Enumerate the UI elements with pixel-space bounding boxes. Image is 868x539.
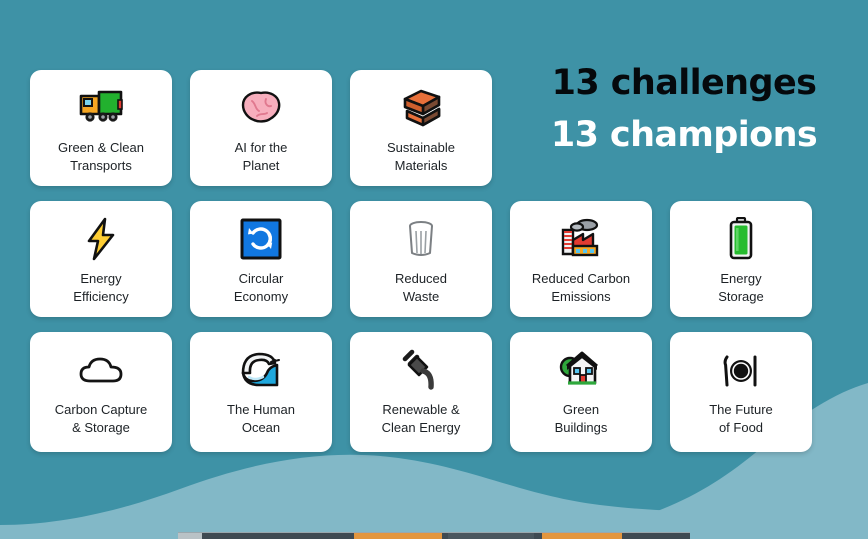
card-label: Reduced Waste <box>389 270 453 305</box>
truck-icon <box>77 83 125 133</box>
card-green-buildings[interactable]: Green Buildings <box>510 332 652 452</box>
factory-icon <box>557 214 605 264</box>
card-reduced-waste[interactable]: Reduced Waste <box>350 201 492 317</box>
card-label: Sustainable Materials <box>381 139 461 174</box>
card-carbon-capture-storage[interactable]: Carbon Capture & Storage <box>30 332 172 452</box>
card-label: Energy Storage <box>712 270 770 305</box>
card-label: The Future of Food <box>703 401 779 436</box>
card-green-clean-transports[interactable]: Green & Clean Transports <box>30 70 172 186</box>
challenge-card-grid: Green & Clean Transports AI for the Plan… <box>30 70 838 467</box>
card-row-3: Carbon Capture & Storage The Human Ocean <box>30 332 838 452</box>
bricks-icon <box>397 83 445 133</box>
card-energy-storage[interactable]: Energy Storage <box>670 201 812 317</box>
wave-light-lower-shape <box>0 455 868 539</box>
card-label: AI for the Planet <box>229 139 294 174</box>
cloud-icon <box>78 345 124 395</box>
plug-icon <box>399 345 443 395</box>
card-label: Green Buildings <box>549 401 614 436</box>
recycle-icon <box>240 214 282 264</box>
bottom-strip-segment-4 <box>448 533 534 539</box>
bottom-strip-segment-2 <box>354 533 442 539</box>
plate-cutlery-icon <box>721 345 761 395</box>
card-reduced-carbon-emissions[interactable]: Reduced Carbon Emissions <box>510 201 652 317</box>
bottom-strip-segment-6 <box>542 533 622 539</box>
bottom-strip-segment-7 <box>622 533 690 539</box>
card-label: Carbon Capture & Storage <box>49 401 154 436</box>
card-label: Renewable & Clean Energy <box>376 401 467 436</box>
bottom-strip-segment-1 <box>202 533 354 539</box>
brain-icon <box>238 83 284 133</box>
card-row-1: Green & Clean Transports AI for the Plan… <box>30 70 838 186</box>
slide-canvas: 13 challenges 13 champions Green & <box>0 0 868 539</box>
card-circular-economy[interactable]: Circular Economy <box>190 201 332 317</box>
bottom-strip-segment-5 <box>534 533 542 539</box>
card-energy-efficiency[interactable]: Energy Efficiency <box>30 201 172 317</box>
card-the-human-ocean[interactable]: The Human Ocean <box>190 332 332 452</box>
card-renewable-clean-energy[interactable]: Renewable & Clean Energy <box>350 332 492 452</box>
bottom-edge-strip <box>178 532 690 539</box>
wastebasket-icon <box>406 214 436 264</box>
card-ai-for-the-planet[interactable]: AI for the Planet <box>190 70 332 186</box>
card-label: Green & Clean Transports <box>52 139 150 174</box>
bottom-strip-segment-0 <box>178 533 202 539</box>
battery-icon <box>727 214 755 264</box>
card-label: Energy Efficiency <box>67 270 134 305</box>
house-tree-icon <box>558 345 604 395</box>
card-row-2: Energy Efficiency Circular Economy <box>30 201 838 317</box>
card-label: Circular Economy <box>228 270 294 305</box>
wave-icon <box>239 345 283 395</box>
card-label: The Human Ocean <box>221 401 301 436</box>
card-sustainable-materials[interactable]: Sustainable Materials <box>350 70 492 186</box>
card-the-future-of-food[interactable]: The Future of Food <box>670 332 812 452</box>
lightning-icon <box>83 214 119 264</box>
card-label: Reduced Carbon Emissions <box>526 270 636 305</box>
